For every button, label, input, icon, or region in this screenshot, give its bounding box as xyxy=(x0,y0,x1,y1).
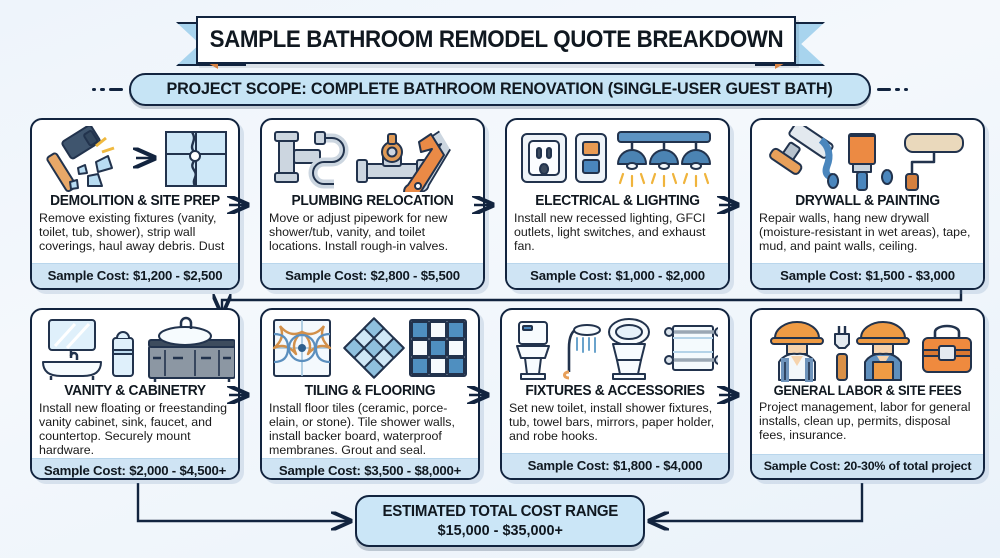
phase-cell-5: VANITY & CABINETRY Install new floating … xyxy=(0,308,250,480)
estimated-total-box: ESTIMATED TOTAL COST RANGE $15,000 - $35… xyxy=(355,495,645,547)
phase-description: Install new recessed lighting, GFCI outl… xyxy=(507,209,728,263)
arrow-step-3-to-4-icon xyxy=(717,196,743,214)
toilet-shower-towel-icon xyxy=(502,310,728,382)
scope-pill: PROJECT SCOPE: COMPLETE BATHROOM RENOVAT… xyxy=(129,73,870,106)
phase-cost-badge: Sample Cost: $1,200 - $2,500 xyxy=(32,263,238,288)
phase-card-drywall[interactable]: DRYWALL & PAINTING Repair walls, hang ne… xyxy=(750,118,985,290)
phase-description: Install new floating or freestanding van… xyxy=(32,399,238,458)
phase-description: Move or adjust pipework for new shower/t… xyxy=(262,209,483,263)
phase-card-demolition[interactable]: DEMOLITION & SITE PREP Remove existing f… xyxy=(30,118,240,290)
phase-cell-1: DEMOLITION & SITE PREP Remove existing f… xyxy=(0,118,250,290)
phase-title: TILING & FLOORING xyxy=(267,383,472,399)
phase-card-general-labor[interactable]: GENERAL LABOR & SITE FEES Project manage… xyxy=(750,308,985,480)
phase-description: Remove existing fixtures (vanity, toilet… xyxy=(32,209,238,263)
phase-row-2: VANITY & CABINETRY Install new floating … xyxy=(0,308,1000,480)
phase-cost-badge: Sample Cost: 20-30% of total project xyxy=(752,454,983,478)
arrow-step-5-to-6-icon xyxy=(227,386,253,404)
phase-row-1: DEMOLITION & SITE PREP Remove existing f… xyxy=(0,118,1000,290)
phase-cost-badge: Sample Cost: $1,500 - $3,000 xyxy=(752,263,983,288)
total-amount: $15,000 - $35,000+ xyxy=(437,522,562,539)
phase-title: PLUMBING RELOCATION xyxy=(268,193,478,209)
phase-card-plumbing[interactable]: PLUMBING RELOCATION Move or adjust pipew… xyxy=(260,118,485,290)
phase-cost-badge: Sample Cost: $1,800 - $4,000 xyxy=(502,453,728,478)
phase-card-tiling[interactable]: TILING & FLOORING Install floor tiles (c… xyxy=(260,308,480,480)
arrow-step-6-to-7-icon xyxy=(467,386,493,404)
phase-title: ELECTRICAL & LIGHTING xyxy=(513,193,723,209)
phase-card-electrical[interactable]: ELECTRICAL & LIGHTING Install new recess… xyxy=(505,118,730,290)
arrow-step-2-to-3-icon xyxy=(472,196,498,214)
phase-cell-2: PLUMBING RELOCATION Move or adjust pipew… xyxy=(250,118,495,290)
phase-card-fixtures[interactable]: FIXTURES & ACCESSORIES Set new toilet, i… xyxy=(500,308,730,480)
phase-description: Set new toilet, install shower fixtures,… xyxy=(502,399,728,453)
phase-title: FIXTURES & ACCESSORIES xyxy=(508,383,723,399)
workers-toolbox-icon xyxy=(752,310,983,382)
paintbrush-roller-icon xyxy=(752,120,983,192)
vanity-mirror-sink-icon xyxy=(32,310,238,382)
total-label: ESTIMATED TOTAL COST RANGE xyxy=(382,503,618,521)
phase-description: Project management, labor for general in… xyxy=(752,398,983,454)
pipes-wrench-icon xyxy=(262,120,483,192)
phase-cell-4: DRYWALL & PAINTING Repair walls, hang ne… xyxy=(740,118,1000,290)
phase-cell-6: TILING & FLOORING Install floor tiles (c… xyxy=(250,308,490,480)
hammer-debris-icon xyxy=(32,120,238,192)
outlet-switch-lights-icon xyxy=(507,120,728,192)
title-plate: SAMPLE BATHROOM REMODEL QUOTE BREAKDOWN xyxy=(196,16,796,64)
phase-cell-7: FIXTURES & ACCESSORIES Set new toilet, i… xyxy=(490,308,740,480)
tiles-icon xyxy=(262,310,478,382)
phase-title: VANITY & CABINETRY xyxy=(37,383,233,399)
phase-title: DRYWALL & PAINTING xyxy=(758,193,977,209)
scope-dash-left-icon xyxy=(92,88,123,91)
phase-card-vanity[interactable]: VANITY & CABINETRY Install new floating … xyxy=(30,308,240,480)
title-ribbon: SAMPLE BATHROOM REMODEL QUOTE BREAKDOWN xyxy=(0,8,1000,66)
scope-label: PROJECT SCOPE: COMPLETE BATHROOM RENOVAT… xyxy=(167,79,833,99)
phase-cost-badge: Sample Cost: $2,000 - $4,500+ xyxy=(32,458,238,480)
scope-dash-right-icon xyxy=(877,88,908,91)
phase-cell-8: GENERAL LABOR & SITE FEES Project manage… xyxy=(740,308,1000,480)
phase-cost-badge: Sample Cost: $1,000 - $2,000 xyxy=(507,263,728,288)
phase-title: DEMOLITION & SITE PREP xyxy=(37,193,233,209)
phase-title: GENERAL LABOR & SITE FEES xyxy=(758,383,977,398)
arrow-step-7-to-8-icon xyxy=(717,386,743,404)
phase-cost-badge: Sample Cost: $2,800 - $5,500 xyxy=(262,263,483,288)
phase-cell-3: ELECTRICAL & LIGHTING Install new recess… xyxy=(495,118,740,290)
phase-cost-badge: Sample Cost: $3,500 - $8,000+ xyxy=(262,458,478,480)
project-scope-bar: PROJECT SCOPE: COMPLETE BATHROOM RENOVAT… xyxy=(0,72,1000,106)
page-title: SAMPLE BATHROOM REMODEL QUOTE BREAKDOWN xyxy=(209,26,783,54)
phase-description: Repair walls, hang new drywall (moisture… xyxy=(752,209,983,263)
arrow-step-1-to-2-icon xyxy=(227,196,253,214)
phase-description: Install floor tiles (ceramic, porce-elai… xyxy=(262,399,478,458)
